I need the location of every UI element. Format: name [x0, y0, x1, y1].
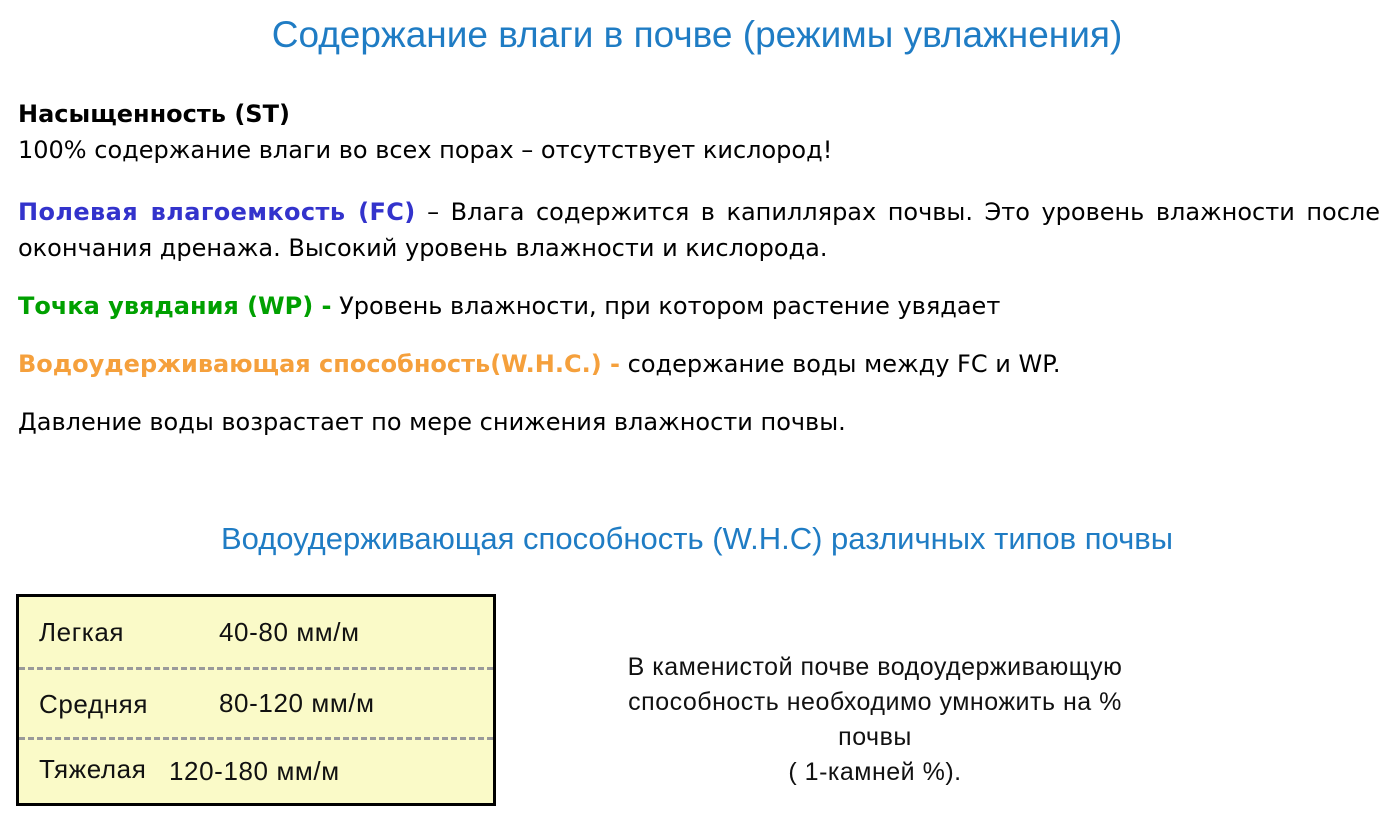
definition-water-holding-capacity: Водоудерживающая способность(W.H.C.) - с… [18, 346, 1380, 382]
section-title: Водоудерживающая способность (W.H.C) раз… [0, 521, 1394, 557]
soil-capacity-cell: 40-80 мм/м [219, 617, 360, 648]
soil-capacity-table: Легкая 40-80 мм/м Средняя 80-120 мм/м Тя… [16, 594, 496, 806]
spacer [18, 168, 1380, 194]
pressure-note: Давление воды возрастает по мере снижени… [18, 404, 1380, 440]
stony-soil-note: В каменистой почве водоудерживающую спос… [590, 650, 1160, 790]
pressure-note-text: Давление воды возрастает по мере снижени… [18, 408, 846, 436]
field-capacity-term: Полевая влагоемкость (FC) [18, 198, 416, 226]
spacer [18, 266, 1380, 288]
table-row: Средняя 80-120 мм/м [19, 667, 493, 737]
table-row: Тяжелая 120-180 мм/м [19, 737, 493, 807]
soil-capacity-cell: 120-180 мм/м [169, 740, 340, 787]
stony-soil-note-line-3: ( 1-камней %). [590, 755, 1160, 790]
saturation-term: Насыщенность (ST) [18, 100, 290, 128]
wilting-point-description: Уровень влажности, при котором растение … [331, 292, 1000, 320]
saturation-description: 100% содержание влаги во всех порах – от… [18, 136, 832, 164]
stony-soil-note-line-1: В каменистой почве водоудерживающую [590, 650, 1160, 685]
soil-capacity-cell: 80-120 мм/м [219, 688, 375, 719]
spacer [18, 382, 1380, 404]
saturation-description-row: 100% содержание влаги во всех порах – от… [18, 132, 1380, 168]
definition-field-capacity: Полевая влагоемкость (FC) – Влага содерж… [18, 194, 1380, 266]
soil-type-cell: Тяжелая [19, 740, 169, 786]
table-row: Легкая 40-80 мм/м [19, 597, 493, 667]
definitions-block: Насыщенность (ST) 100% содержание влаги … [18, 96, 1380, 440]
water-holding-capacity-term: Водоудерживающая способность(W.H.C.) - [18, 350, 620, 378]
soil-type-cell: Средняя [19, 687, 219, 721]
soil-type-cell: Легкая [19, 615, 219, 649]
definition-wilting-point: Точка увядания (WP) - Уровень влажности,… [18, 288, 1380, 324]
slide-title: Содержание влаги в почве (режимы увлажне… [0, 14, 1394, 56]
wilting-point-term: Точка увядания (WP) - [18, 292, 331, 320]
definition-saturation: Насыщенность (ST) [18, 96, 1380, 132]
stony-soil-note-line-2: способность необходимо умножить на % поч… [590, 685, 1160, 755]
spacer [18, 324, 1380, 346]
water-holding-capacity-description: содержание воды между FC и WP. [620, 350, 1061, 378]
